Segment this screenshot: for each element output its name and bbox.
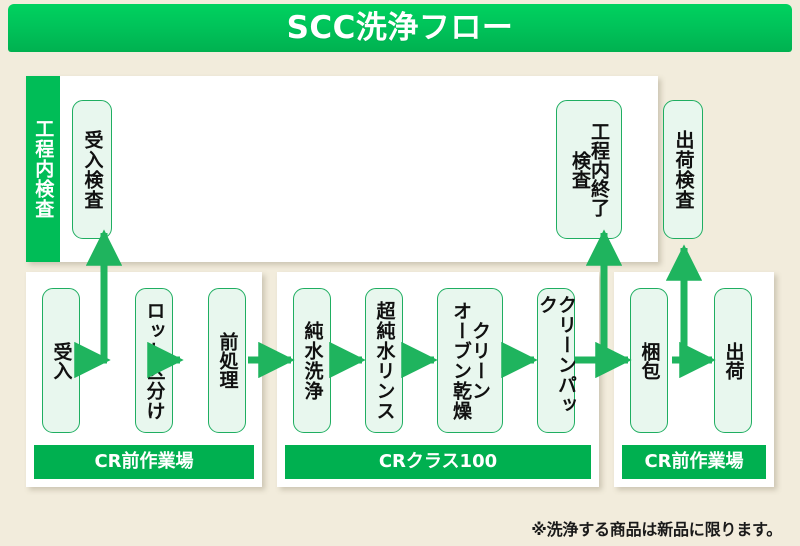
group-footer-1: CR前作業場: [34, 445, 254, 479]
box-step-packing[interactable]: 梱包: [630, 288, 668, 433]
group-footer-label: CR前作業場: [94, 453, 193, 471]
box-step-pretreatment[interactable]: 前処理: [208, 288, 246, 433]
box-label-column-1: 検査: [570, 101, 589, 238]
flow-diagram-root: SCC洗浄フロー 工程内検査 受入検査 工程内終了 検査 出荷検査 受入 ロット…: [0, 0, 800, 546]
box-label-column-0: クリーンパック: [537, 289, 575, 432]
group-footer-2: CRクラス100: [285, 445, 591, 479]
box-step-receiving[interactable]: 受入: [42, 288, 80, 433]
box-label-column-0: 工程内終了: [589, 101, 608, 238]
box-step-ultrapure-rinse[interactable]: 超純水リンス: [365, 288, 403, 433]
box-step-lot-sorting[interactable]: ロット区分け: [135, 288, 173, 433]
inspection-sidebar: 工程内検査: [26, 76, 60, 262]
box-label-column-0: 超純水リンス: [375, 289, 394, 432]
group-footer-label: CRクラス100: [379, 453, 497, 471]
title-banner: SCC洗浄フロー: [8, 4, 792, 52]
inspection-panel: 工程内検査 受入検査 工程内終了 検査: [26, 76, 658, 262]
box-receiving-inspection[interactable]: 受入検査: [72, 100, 112, 239]
box-label-column-0: クリーン: [470, 289, 489, 432]
box-step-clean-oven-dry[interactable]: クリーン オーブン乾燥: [437, 288, 503, 433]
box-label-column-0: 出荷検査: [674, 101, 693, 238]
box-label-column-1: オーブン乾燥: [451, 289, 470, 432]
group-panel-cr-pre-work-area-1: 受入 ロット区分け 前処理 CR前作業場: [26, 272, 262, 487]
footnote: ※洗浄する商品は新品に限ります。: [531, 516, 782, 540]
box-label-column-0: ロット区分け: [145, 289, 164, 432]
group-panel-cr-class-100: 純水洗浄 超純水リンス クリーン オーブン乾燥 クリーンパック CRクラス100: [277, 272, 599, 487]
box-step-clean-pack[interactable]: クリーンパック: [537, 288, 575, 433]
box-label-column-0: 前処理: [218, 289, 237, 432]
box-shipping-inspection[interactable]: 出荷検査: [663, 100, 703, 239]
box-label-column-0: 受入検査: [83, 101, 102, 238]
inspection-sidebar-label: 工程内検査: [33, 119, 54, 219]
box-step-shipping[interactable]: 出荷: [714, 288, 752, 433]
box-label-column-0: 梱包: [640, 289, 659, 432]
box-label-column-0: 受入: [52, 289, 71, 432]
box-step-pure-water-wash[interactable]: 純水洗浄: [293, 288, 331, 433]
group-footer-3: CR前作業場: [622, 445, 766, 479]
group-footer-label: CR前作業場: [644, 453, 743, 471]
box-label-column-0: 出荷: [724, 289, 743, 432]
page-title: SCC洗浄フロー: [287, 13, 514, 44]
box-label-column-0: 純水洗浄: [303, 289, 322, 432]
group-panel-cr-pre-work-area-2: 梱包 出荷 CR前作業場: [614, 272, 774, 487]
box-process-final-inspection[interactable]: 工程内終了 検査: [556, 100, 622, 239]
